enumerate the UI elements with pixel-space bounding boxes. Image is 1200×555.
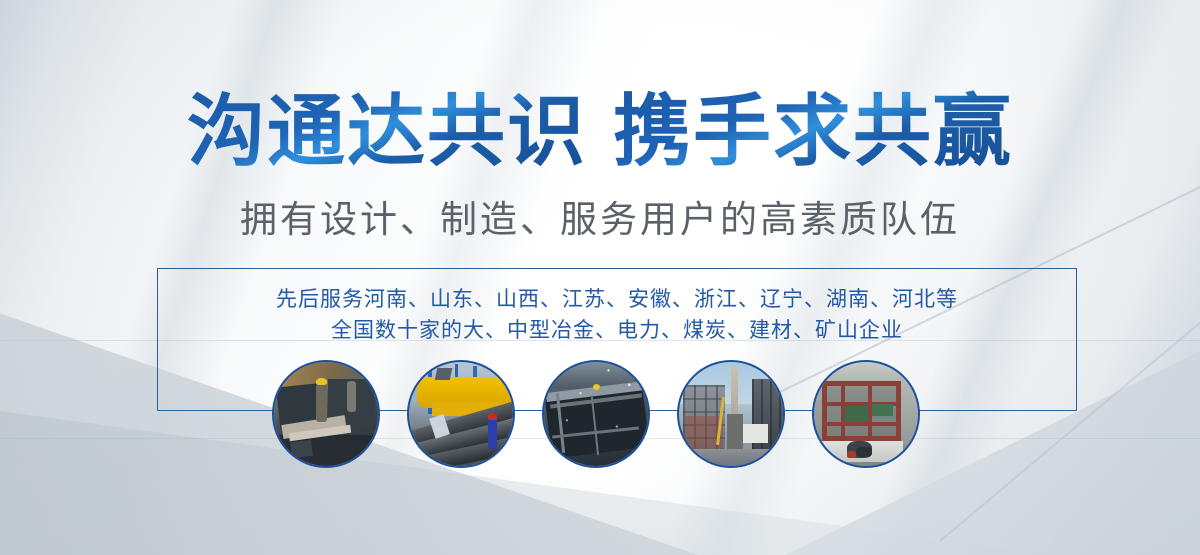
photo-5-green-panel-2 — [872, 404, 893, 416]
photo-5-inner — [814, 362, 918, 466]
photo-tank-in-snow[interactable] — [542, 360, 650, 468]
photo-workshop-framework[interactable] — [812, 360, 920, 468]
photo-1-yellow-helmet — [316, 378, 327, 385]
photo-5-right-wall — [901, 372, 918, 445]
photo-3-snowfall — [544, 362, 648, 466]
photo-strip — [272, 360, 948, 470]
promo-banner: 沟通达共识携手求共赢 拥有设计、制造、服务用户的高素质队伍 先后服务河南、山东、… — [0, 0, 1200, 555]
photo-steel-plate-installation[interactable] — [272, 360, 380, 468]
photo-3-inner — [544, 362, 648, 466]
photo-5-horizontal-beam-2 — [822, 422, 901, 426]
body-text-line-2: 全国数十家的大、中型冶金、电力、煤炭、建材、矿山企业 — [157, 315, 1077, 346]
photo-5-machinery-base — [856, 447, 873, 456]
headline-part-2: 携手求共赢 — [613, 87, 1013, 177]
photo-1-loose-panel — [290, 440, 313, 458]
photo-1-worker-body — [316, 383, 327, 423]
photo-5-red-part — [847, 451, 855, 457]
photo-2-red-helmet — [488, 413, 497, 420]
photo-4-ground — [679, 449, 783, 466]
photo-5-green-panel-1 — [845, 406, 868, 423]
photo-4-white-building — [743, 424, 768, 443]
headline-part-1: 沟通达共识 — [187, 87, 587, 177]
body-text-line-1: 先后服务河南、山东、山西、江苏、安徽、浙江、辽宁、湖南、河北等 — [157, 284, 1077, 315]
photo-yellow-conveyor-pipes[interactable] — [407, 360, 515, 468]
headline: 沟通达共识携手求共赢 — [0, 93, 1200, 171]
body-text: 先后服务河南、山东、山西、江苏、安徽、浙江、辽宁、湖南、河北等 全国数十家的大、… — [157, 284, 1077, 346]
photo-4-inner — [679, 362, 783, 466]
photo-1-inner — [274, 362, 378, 466]
photo-2-worker-body — [488, 418, 497, 449]
photo-2-hopper — [435, 368, 452, 380]
photo-4-tower — [727, 414, 744, 454]
subtitle: 拥有设计、制造、服务用户的高素质队伍 — [0, 200, 1200, 241]
photo-2-inner — [409, 362, 513, 466]
photo-1-worker-body-2 — [347, 381, 356, 412]
banner-content: 沟通达共识携手求共赢 拥有设计、制造、服务用户的高素质队伍 先后服务河南、山东、… — [0, 0, 1200, 555]
photo-plant-construction[interactable] — [677, 360, 785, 468]
